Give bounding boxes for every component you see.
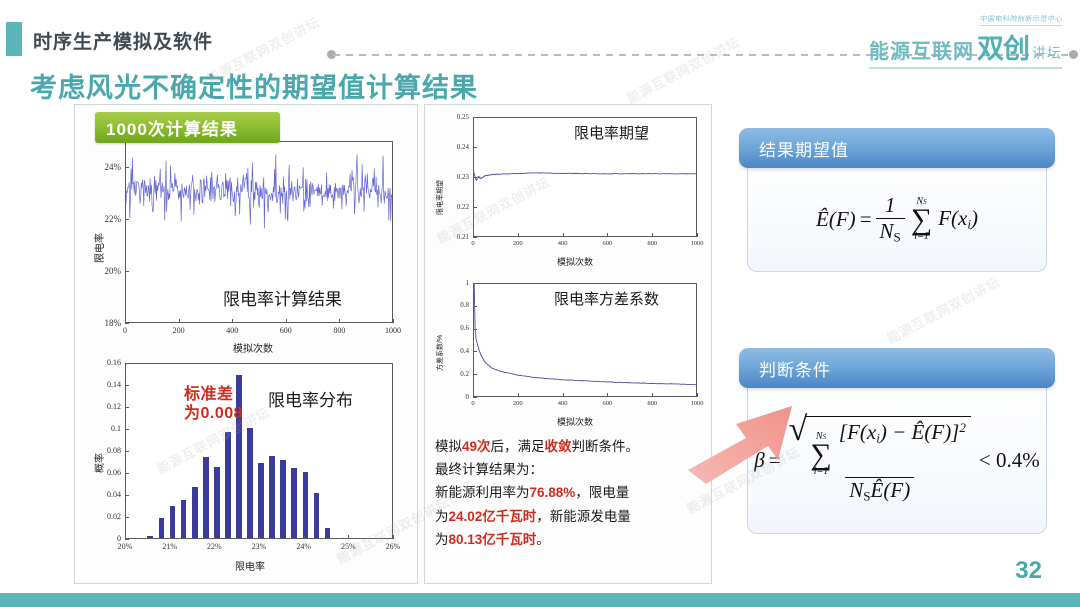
fc-sigma-glyph: ∑	[810, 442, 831, 468]
chart-curtailment-timeseries: 限电率 模拟次数 限电率计算结果 18%20%22%24% 0200400600…	[83, 133, 413, 355]
fx-summation: NS ∑ i=1	[911, 197, 932, 243]
y-tick-label: 0.16	[85, 358, 121, 367]
t4a: 为	[435, 509, 449, 524]
middle-panel: 限电率期望 限电率期望 模拟次数 0.210.220.230.240.25 02…	[424, 104, 712, 584]
t1-hl2: 收敛	[545, 439, 572, 454]
axis-tickmark	[473, 117, 477, 118]
brand-name-small: 讲坛	[1032, 43, 1062, 63]
histogram-bar	[159, 518, 165, 538]
axis-tickmark	[473, 329, 477, 330]
histogram-bar	[225, 432, 231, 538]
fc-br-a: [F(x	[839, 420, 876, 444]
fc-summation: NS ∑ i=1	[810, 432, 831, 478]
histogram-bar	[291, 468, 297, 538]
y-tick-label: 0.14	[85, 380, 121, 389]
x-tick-label: 200	[167, 326, 191, 335]
axis-tickmark	[125, 451, 129, 452]
fc-den-n: N	[849, 478, 863, 502]
chart2-plot-area: 标准差为0.008 限电率分布	[125, 363, 393, 539]
fc-den: NSÊ(F)	[845, 477, 914, 505]
watermark: 能源互联网双创讲坛	[883, 272, 1003, 348]
page-title: 考虑风光不确定性的期望值计算结果	[30, 66, 478, 105]
axis-tickmark	[125, 363, 129, 364]
card-judgement-condition-header: 判断条件	[739, 348, 1055, 388]
axis-tickmark	[125, 495, 129, 496]
x-tick-label: 23%	[247, 542, 271, 551]
page-number: 32	[1015, 557, 1042, 585]
fc-num: √ NS ∑ i=1 [F(xi) − Ê(F)]2	[785, 416, 975, 477]
chart3-plot-area: 限电率期望	[473, 117, 697, 237]
fx-lhs: Ê(F)	[816, 207, 856, 232]
x-tick-label: 0	[113, 326, 137, 335]
fx-term-a: F(x	[938, 206, 967, 230]
y-tick-label: 20%	[85, 266, 121, 276]
fx-term-end: )	[971, 206, 978, 230]
y-tick-label: 0.8	[433, 301, 469, 309]
axis-tickmark	[125, 319, 126, 323]
t1b: 后，满足	[491, 439, 545, 454]
y-tick-label: 0.1	[85, 424, 121, 433]
x-tick-label: 26%	[381, 542, 405, 551]
y-tick-label: 0.12	[85, 402, 121, 411]
axis-tickmark	[125, 517, 129, 518]
conclusion-text: 模拟49次后，满足收敛判断条件。 最终计算结果为： 新能源利用率为76.88%，…	[435, 435, 707, 551]
card-expected-value-header: 结果期望值	[739, 128, 1055, 168]
t3b: ，限电量	[575, 485, 629, 500]
section-kicker: 时序生产模拟及软件	[33, 27, 213, 54]
axis-tickmark	[697, 393, 698, 397]
conclusion-line-1: 模拟49次后，满足收敛判断条件。	[435, 435, 707, 458]
y-tick-label: 0.04	[85, 490, 121, 499]
histogram-bar	[214, 467, 220, 539]
t1c: 判断条件。	[572, 439, 640, 454]
histogram-bar	[303, 472, 309, 538]
axis-tickmark	[286, 319, 287, 323]
axis-tickmark	[125, 407, 129, 408]
axis-tickmark	[214, 535, 215, 539]
axis-tickmark	[125, 219, 129, 220]
y-tick-label: 0.22	[433, 203, 469, 211]
x-tick-label: 21%	[158, 542, 182, 551]
histogram-bar	[314, 493, 320, 538]
axis-tickmark	[125, 167, 129, 168]
axis-tickmark	[473, 147, 477, 148]
brand-main: 能源互联网 双创 讲坛	[869, 27, 1062, 66]
y-tick-label: 1	[433, 279, 469, 287]
fc-fraction: √ NS ∑ i=1 [F(xi) − Ê(F)]2 NSÊ(F)	[785, 416, 975, 504]
axis-tickmark	[232, 319, 233, 323]
y-tick-label: 22%	[85, 214, 121, 224]
t1-hl1: 49次	[462, 439, 491, 454]
x-tick-label: 200	[506, 240, 530, 247]
y-tick-label: 0.08	[85, 446, 121, 455]
conclusion-line-4: 为24.02亿千瓦时，新能源发电量	[435, 505, 707, 528]
chart2-xlabel: 限电率	[235, 558, 265, 573]
chart1-ylabel: 限电率	[91, 233, 106, 263]
y-tick-label: 24%	[85, 162, 121, 172]
chart3-annotation: 限电率期望	[574, 122, 649, 143]
histogram-bar	[203, 457, 209, 538]
axis-tickmark	[697, 233, 698, 237]
t5a: 为	[435, 532, 449, 547]
histogram-bar	[147, 536, 153, 538]
axis-tickmark	[473, 237, 477, 238]
axis-tickmark	[473, 306, 477, 307]
fx-fraction: 1 NS	[876, 193, 905, 246]
x-tick-label: 800	[640, 240, 664, 247]
chart-curtailment-cv: 限电率方差系数 方差系数/% 模拟次数 00.20.40.60.81 02004…	[429, 271, 711, 431]
axis-tickmark	[393, 535, 394, 539]
fx-eq: =	[860, 207, 872, 232]
fc-sum-bottom: i=1	[814, 467, 829, 477]
t3a: 新能源利用率为	[435, 485, 530, 500]
fc-compare: < 0.4%	[979, 448, 1040, 473]
chart-curtailment-expectation: 限电率期望 限电率期望 模拟次数 0.210.220.230.240.25 02…	[429, 109, 711, 271]
axis-tickmark	[563, 393, 564, 397]
x-tick-label: 1000	[685, 240, 709, 247]
axis-tickmark	[473, 177, 477, 178]
card-expected-value: 结果期望值 Ê(F) = 1 NS NS ∑ i=1 F(xi)	[739, 128, 1055, 272]
t4b: ，新能源发电量	[536, 509, 631, 524]
axis-tickmark	[652, 233, 653, 237]
brand-top-text: 中国电科院创新示范中心	[979, 14, 1063, 26]
t1a: 模拟	[435, 439, 462, 454]
axis-tickmark	[393, 319, 394, 323]
axis-tickmark	[563, 233, 564, 237]
t4-hl: 24.02亿千瓦时	[449, 509, 537, 524]
chart4-annotation: 限电率方差系数	[554, 288, 659, 309]
histogram-bar	[280, 460, 286, 538]
conclusion-line-2: 最终计算结果为：	[435, 458, 707, 481]
chart3-xlabel: 模拟次数	[557, 255, 593, 268]
y-tick-label: 0.2	[433, 370, 469, 378]
left-charts-panel: 1000次计算结果 限电率 模拟次数 限电率计算结果 18%20%22%24% …	[74, 104, 418, 584]
x-tick-label: 200	[506, 400, 530, 407]
histogram-bar	[325, 528, 331, 538]
axis-tickmark	[473, 374, 477, 375]
axis-tickmark	[607, 393, 608, 397]
x-tick-label: 400	[551, 240, 575, 247]
axis-tickmark	[125, 429, 129, 430]
footer-bar	[0, 593, 1080, 607]
y-tick-label: 0.06	[85, 468, 121, 477]
x-tick-label: 20%	[113, 542, 137, 551]
axis-tickmark	[348, 535, 349, 539]
fc-bracket: [F(xi) − Ê(F)]2	[839, 420, 966, 444]
x-tick-label: 0	[461, 240, 485, 247]
conclusion-line-5: 为80.13亿千瓦时。	[435, 528, 707, 551]
conclusion-line-3: 新能源利用率为76.88%，限电量	[435, 481, 707, 504]
axis-tickmark	[125, 323, 129, 324]
t3-hl: 76.88%	[530, 485, 576, 500]
axis-tickmark	[179, 319, 180, 323]
histogram-bar	[258, 463, 264, 538]
fc-radical: √ NS ∑ i=1 [F(xi) − Ê(F)]2	[789, 416, 971, 477]
header-accent-bar	[6, 22, 22, 56]
fx-den: NS	[876, 218, 905, 246]
axis-tickmark	[125, 271, 129, 272]
y-tick-label: 0.25	[433, 113, 469, 121]
axis-tickmark	[304, 535, 305, 539]
fc-den-sub: S	[863, 489, 870, 504]
axis-tickmark	[607, 233, 608, 237]
x-tick-label: 0	[461, 400, 485, 407]
fx-sum-bottom: i=1	[914, 232, 929, 242]
axis-tickmark	[652, 393, 653, 397]
axis-tickmark	[259, 535, 260, 539]
y-tick-label: 0.6	[433, 324, 469, 332]
brand-logo: 中国电科院创新示范中心 能源互联网 双创 讲坛	[869, 8, 1062, 69]
chart2-annotation: 限电率分布	[268, 386, 353, 411]
brand-name-big: 双创	[977, 27, 1029, 66]
x-tick-label: 600	[595, 240, 619, 247]
x-tick-label: 400	[220, 326, 244, 335]
axis-tickmark	[125, 535, 126, 539]
histogram-bar	[192, 487, 198, 538]
axis-tickmark	[518, 233, 519, 237]
histogram-bar	[269, 456, 275, 539]
fc-br-mid: ) − Ê(F)]	[880, 420, 959, 444]
x-tick-label: 600	[274, 326, 298, 335]
histogram-bar	[170, 506, 176, 538]
fx-den-n: N	[880, 219, 894, 243]
brand-underline	[869, 67, 1062, 69]
axis-tickmark	[473, 393, 474, 397]
x-tick-label: 800	[327, 326, 351, 335]
x-tick-label: 24%	[292, 542, 316, 551]
axis-tickmark	[473, 397, 477, 398]
fc-rad-body: NS ∑ i=1 [F(xi) − Ê(F)]2	[805, 416, 971, 477]
axis-tickmark	[125, 539, 129, 540]
y-tick-label: 0.02	[85, 512, 121, 521]
x-tick-label: 1000	[381, 326, 405, 335]
axis-tickmark	[125, 473, 129, 474]
fc-power: 2	[959, 419, 966, 434]
x-tick-label: 600	[595, 400, 619, 407]
axis-tickmark	[473, 283, 477, 284]
axis-tickmark	[125, 385, 129, 386]
fx-term: F(xi)	[938, 206, 978, 233]
result-count-badge: 1000次计算结果	[95, 112, 280, 143]
fc-den-tail: Ê(F)	[871, 478, 911, 502]
x-tick-label: 22%	[202, 542, 226, 551]
t5b: 。	[536, 532, 550, 547]
histogram-bar	[247, 428, 253, 538]
y-tick-label: 0.23	[433, 173, 469, 181]
axis-tickmark	[339, 319, 340, 323]
x-tick-label: 400	[551, 400, 575, 407]
chart-curtailment-distribution: 标准差为0.008 限电率分布 概率 限电率 00.020.040.060.08…	[83, 353, 413, 579]
card-expected-value-body: Ê(F) = 1 NS NS ∑ i=1 F(xi)	[747, 162, 1047, 272]
chart2-stddev-annotation: 标准差为0.008	[184, 386, 243, 424]
dash-dot-right	[1069, 50, 1078, 59]
axis-tickmark	[473, 207, 477, 208]
x-tick-label: 800	[640, 400, 664, 407]
fx-sigma-glyph: ∑	[911, 207, 932, 233]
axis-tickmark	[170, 535, 171, 539]
axis-tickmark	[473, 233, 474, 237]
y-tick-label: 0.4	[433, 347, 469, 355]
axis-tickmark	[473, 351, 477, 352]
fx-num: 1	[881, 193, 900, 218]
chart4-xlabel: 模拟次数	[557, 415, 593, 428]
chart1-annotation: 限电率计算结果	[223, 285, 342, 310]
t5-hl: 80.13亿千瓦时	[449, 532, 537, 547]
fx-den-sub: S	[894, 230, 901, 245]
x-tick-label: 25%	[336, 542, 360, 551]
axis-tickmark	[518, 393, 519, 397]
y-tick-label: 0.24	[433, 143, 469, 151]
histogram-bar	[181, 500, 187, 539]
formula-expected-value: Ê(F) = 1 NS NS ∑ i=1 F(xi)	[816, 193, 978, 246]
pointer-arrow-icon	[688, 398, 800, 486]
brand-name-cn: 能源互联网	[869, 35, 974, 64]
chart4-plot-area: 限电率方差系数	[473, 283, 697, 397]
